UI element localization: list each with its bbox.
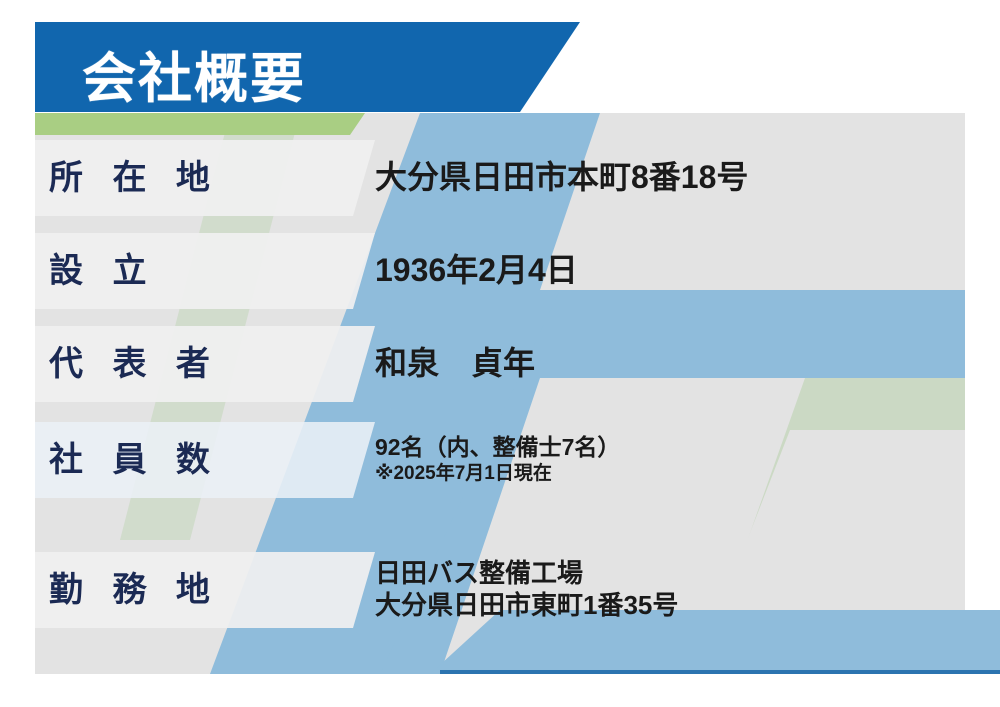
row-label: 勤 務 地 xyxy=(49,573,220,607)
row-label: 所 在 地 xyxy=(49,161,220,195)
row-label: 代 表 者 xyxy=(49,347,220,381)
row-label-cell: 勤 務 地 xyxy=(35,552,375,628)
row-value-note: ※2025年7月1日現在 xyxy=(375,462,620,486)
row-label-cell: 代 表 者 xyxy=(35,326,375,402)
company-profile-slide: 会社概要 所 在 地 大分県日田市本町8番18号 設 立 1936年2月4日 xyxy=(0,0,1000,707)
green-stripe-shape xyxy=(35,113,365,135)
margin-bottom xyxy=(0,674,1000,707)
row-value-line-1: 日田バス整備工場 xyxy=(375,558,678,590)
row-value-cell: 92名（内、整備士7名） ※2025年7月1日現在 xyxy=(375,422,620,498)
row-label: 設 立 xyxy=(49,254,156,288)
row-label-cell: 所 在 地 xyxy=(35,140,375,216)
blue-band-bottom-underline xyxy=(440,670,1000,674)
row-label: 社 員 数 xyxy=(49,443,220,477)
row-value-cell: 大分県日田市本町8番18号 xyxy=(375,140,748,216)
row-value: 和泉 貞年 xyxy=(375,345,535,383)
row-label-cell: 社 員 数 xyxy=(35,422,375,498)
title-banner: 会社概要 xyxy=(35,22,580,112)
row-value-cell: 1936年2月4日 xyxy=(375,233,578,309)
row-value: 92名（内、整備士7名） xyxy=(375,434,620,461)
row-value: 大分県日田市本町8番18号 xyxy=(375,159,748,197)
row-value-cell: 日田バス整備工場 大分県日田市東町1番35号 xyxy=(375,552,678,628)
title-underline-green-stripe xyxy=(35,113,365,135)
page-title: 会社概要 xyxy=(82,52,306,106)
margin-right xyxy=(965,0,1000,610)
row-value-line-2: 大分県日田市東町1番35号 xyxy=(375,590,678,622)
row-value: 1936年2月4日 xyxy=(375,252,578,290)
row-label-cell: 設 立 xyxy=(35,233,375,309)
row-value-cell: 和泉 貞年 xyxy=(375,326,535,402)
